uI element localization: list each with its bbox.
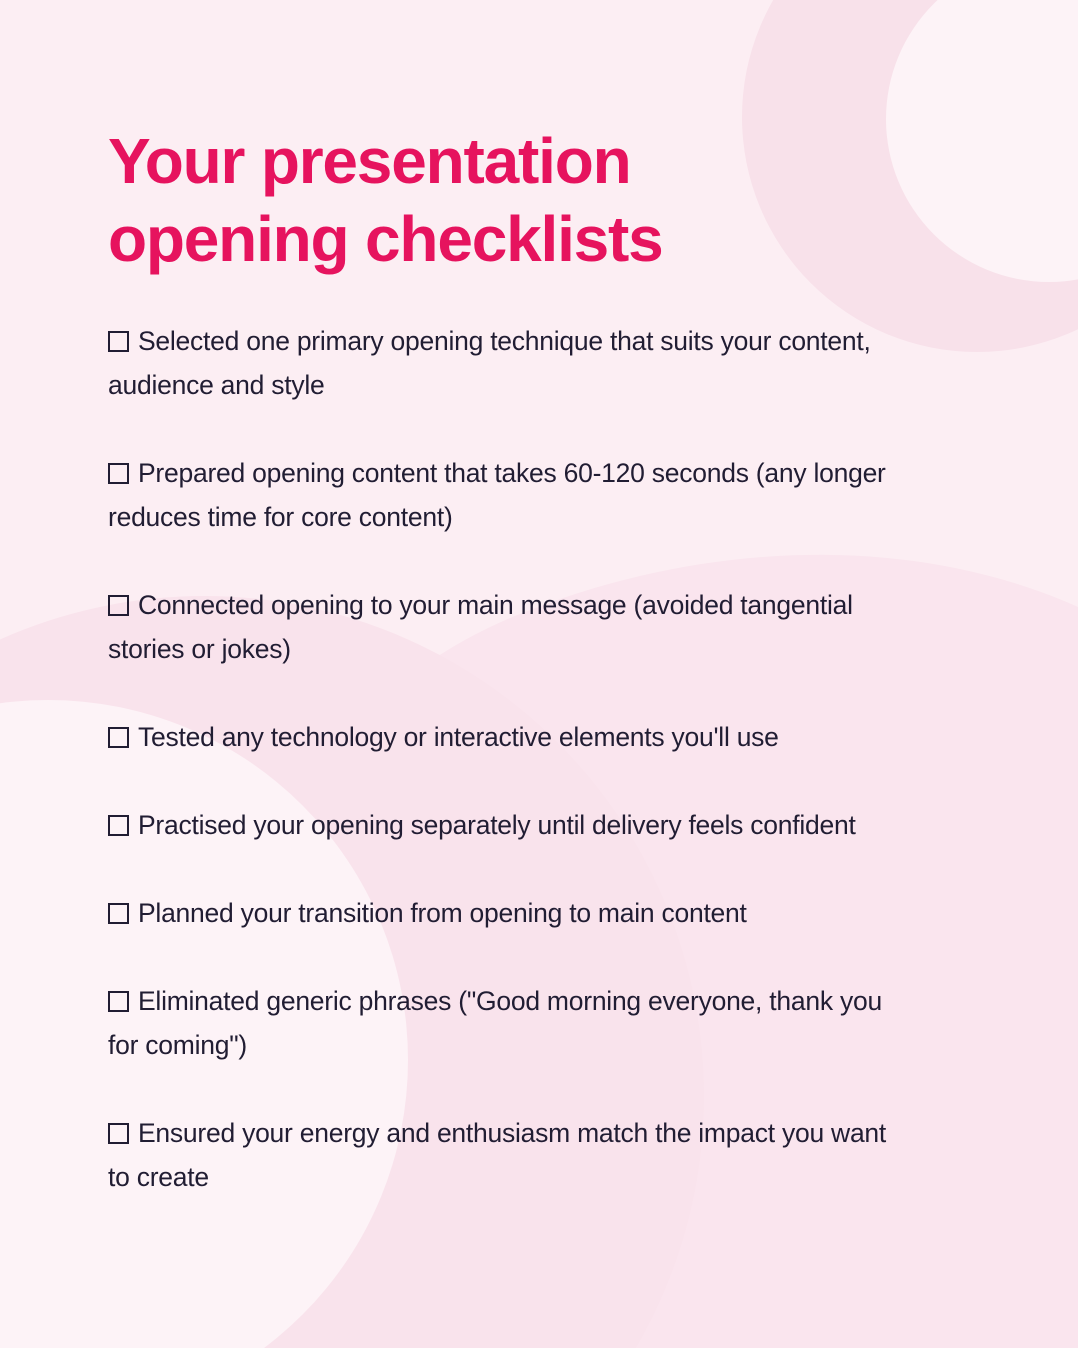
checklist-item[interactable]: Eliminated generic phrases ("Good mornin…: [108, 980, 898, 1068]
checklist-item[interactable]: Ensured your energy and enthusiasm match…: [108, 1112, 898, 1200]
checklist-item[interactable]: Prepared opening content that takes 60-1…: [108, 452, 898, 540]
checkbox-icon[interactable]: [108, 727, 129, 748]
checklist-item-label: Prepared opening content that takes 60-1…: [108, 458, 886, 532]
checklist-item[interactable]: Practised your opening separately until …: [108, 804, 898, 848]
checklist-item[interactable]: Selected one primary opening technique t…: [108, 320, 898, 408]
checklist-item-label: Ensured your energy and enthusiasm match…: [108, 1118, 886, 1192]
checklist-item-label: Selected one primary opening technique t…: [108, 326, 871, 400]
checkbox-icon[interactable]: [108, 331, 129, 352]
checklist-item-label: Tested any technology or interactive ele…: [138, 722, 779, 752]
checklist-item[interactable]: Planned your transition from opening to …: [108, 892, 898, 936]
checklist: Selected one primary opening technique t…: [108, 278, 970, 1200]
checkbox-icon[interactable]: [108, 991, 129, 1012]
checkbox-icon[interactable]: [108, 815, 129, 836]
checkbox-icon[interactable]: [108, 1123, 129, 1144]
checkbox-icon[interactable]: [108, 903, 129, 924]
page-title: Your presentation opening checklists: [108, 0, 748, 278]
checklist-item-label: Planned your transition from opening to …: [138, 898, 747, 928]
checkbox-icon[interactable]: [108, 463, 129, 484]
checklist-item-label: Connected opening to your main message (…: [108, 590, 853, 664]
checklist-item[interactable]: Connected opening to your main message (…: [108, 584, 898, 672]
checklist-item-label: Practised your opening separately until …: [138, 810, 856, 840]
checklist-poster: Your presentation opening checklists Sel…: [0, 0, 1078, 1348]
poster-content: Your presentation opening checklists Sel…: [0, 0, 1078, 1200]
checklist-item[interactable]: Tested any technology or interactive ele…: [108, 716, 898, 760]
checklist-item-label: Eliminated generic phrases ("Good mornin…: [108, 986, 882, 1060]
checkbox-icon[interactable]: [108, 595, 129, 616]
